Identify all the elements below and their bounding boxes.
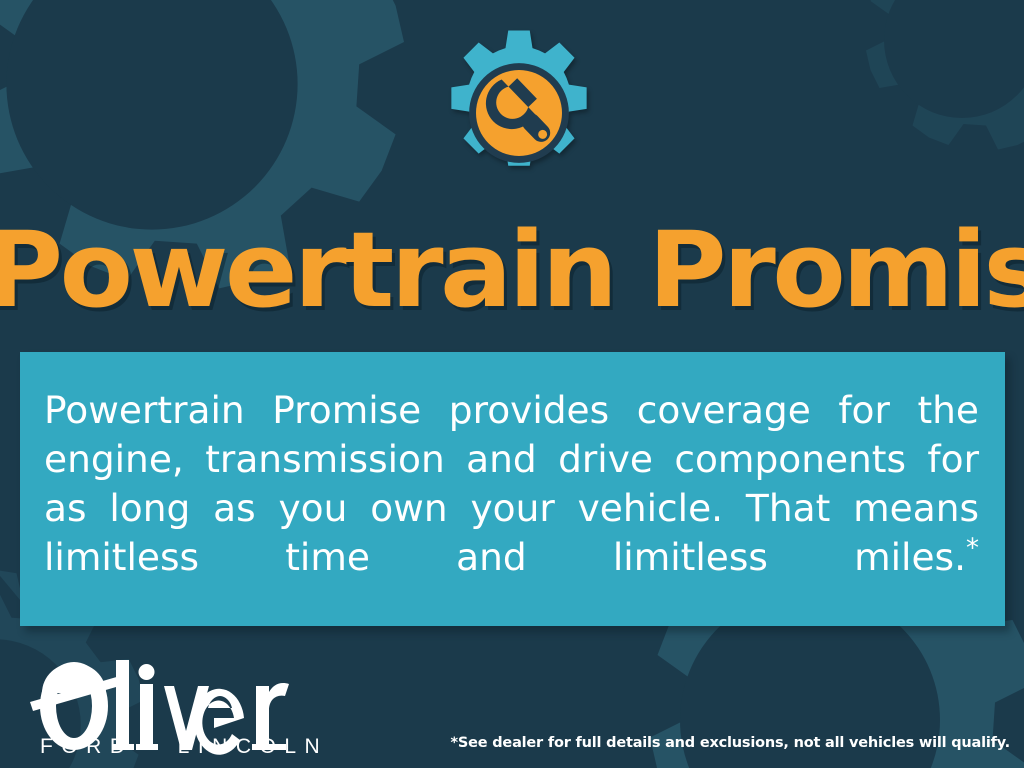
promise-body-copy: Powertrain Promise provides coverage for… <box>44 388 979 579</box>
promise-body-text: Powertrain Promise provides coverage for… <box>44 386 979 631</box>
disclaimer-text: *See dealer for full details and exclusi… <box>451 735 1010 751</box>
background-gear-icon <box>812 0 1024 190</box>
logo-subtitle: FORD · LINCOLN <box>40 735 328 759</box>
page-title: Powertrain Promise <box>0 218 1024 322</box>
promotional-graphic: Powertrain Promise Powertrain Promise pr… <box>0 0 1024 768</box>
gear-wrench-icon <box>433 27 605 199</box>
footnote-marker: * <box>966 534 979 564</box>
promise-panel: Powertrain Promise provides coverage for… <box>20 352 1005 626</box>
